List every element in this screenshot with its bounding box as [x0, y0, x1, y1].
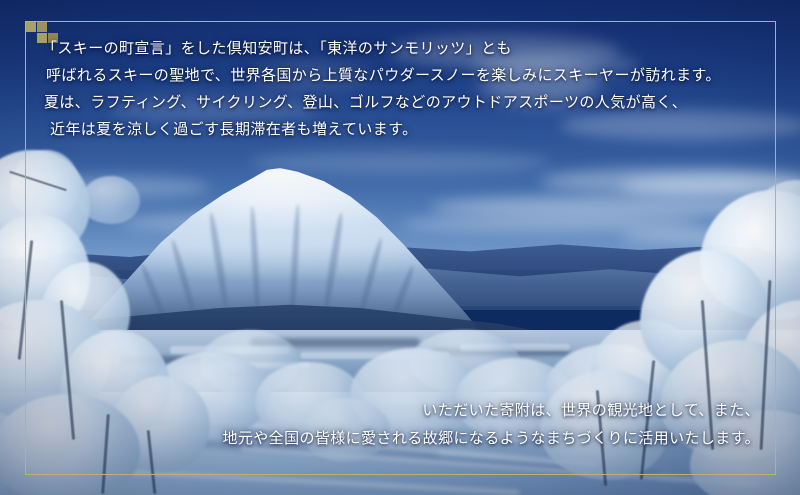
- corner-ornament-square: [37, 22, 47, 32]
- cloud-shape: [250, 150, 550, 174]
- closing-paragraph: いただいた寄附は、世界の観光地として、また、 地元や全国の皆様に愛される故郷にな…: [20, 397, 760, 453]
- corner-ornament-square: [26, 22, 36, 32]
- intro-line-2: 呼ばれるスキーの聖地で、世界各国から上質なパウダースノーを楽しみにスキーヤーが訪…: [42, 63, 758, 90]
- intro-line-3: 夏は、ラフティング、サイクリング、登山、ゴルフなどのアウトドアスポーツの人気が高…: [42, 90, 758, 117]
- closing-line-2: 地元や全国の皆様に愛される故郷になるようなまちづくりに活用いたします。: [20, 425, 760, 453]
- closing-line-1: いただいた寄附は、世界の観光地として、また、: [20, 397, 760, 425]
- intro-line-4: 近年は夏を涼しく過ごす長期滞在者も増えています。: [42, 117, 758, 144]
- intro-paragraph: 「スキーの町宣言」をした倶知安町は、「東洋のサンモリッツ」とも 呼ばれるスキーの…: [42, 36, 758, 144]
- kutchan-banner: 「スキーの町宣言」をした倶知安町は、「東洋のサンモリッツ」とも 呼ばれるスキーの…: [0, 0, 800, 495]
- intro-line-1: 「スキーの町宣言」をした倶知安町は、「東洋のサンモリッツ」とも: [42, 36, 758, 63]
